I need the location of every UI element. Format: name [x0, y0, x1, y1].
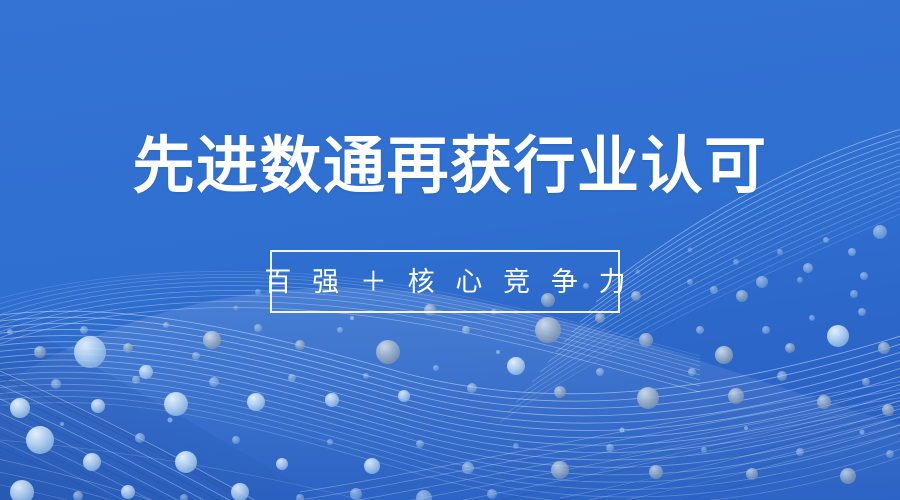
subtitle-label: 百 强 ＋ 核 心 竞 争 力: [257, 267, 632, 297]
subtitle-frame: 百 强 ＋ 核 心 竞 争 力: [270, 250, 620, 313]
banner-content: 先进数通再获行业认可 百 强 ＋ 核 心 竞 争 力: [0, 0, 900, 500]
promo-banner: 先进数通再获行业认可 百 强 ＋ 核 心 竞 争 力: [0, 0, 900, 500]
page-title: 先进数通再获行业认可: [0, 131, 900, 203]
